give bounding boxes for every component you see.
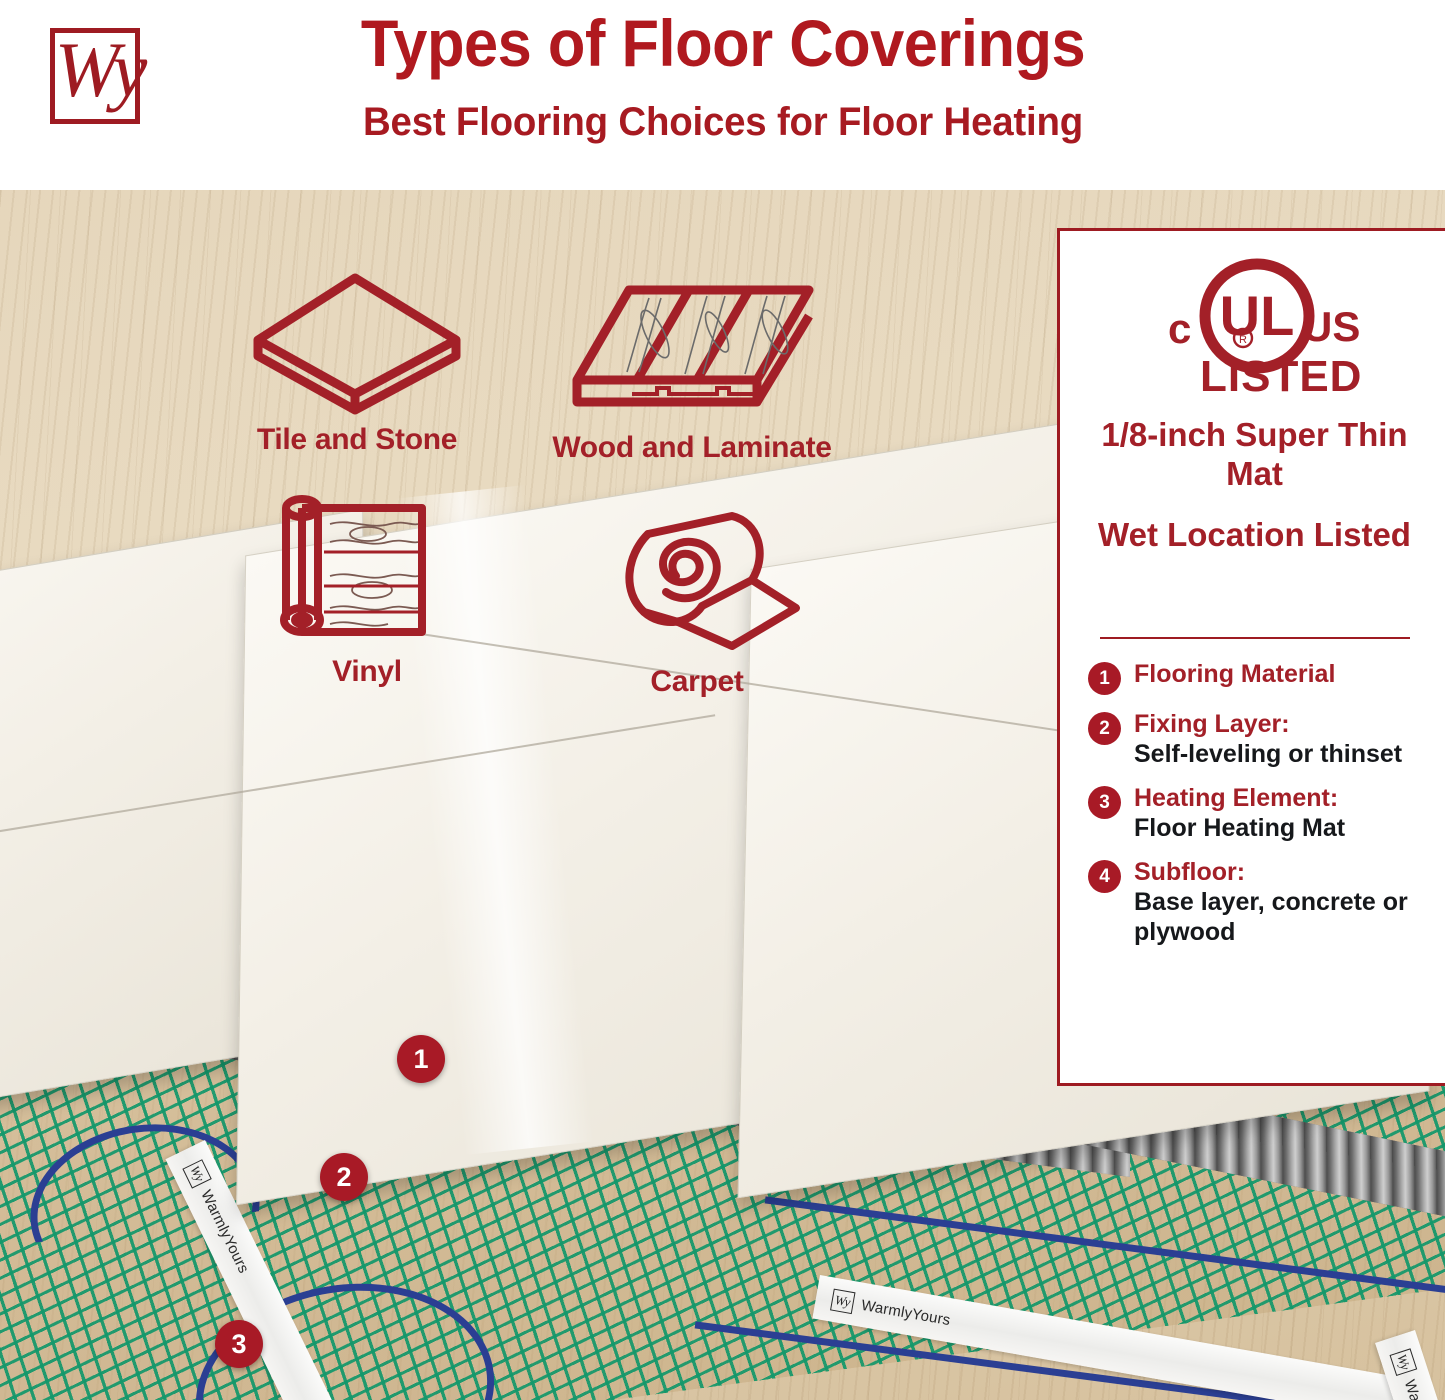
carpet-roll-icon <box>572 500 822 665</box>
info-panel: c US LISTED UL R 1/8-inch Super Thin Mat… <box>1057 228 1445 1086</box>
legend-number-badge: 1 <box>1088 662 1121 695</box>
photo-callout-2: 2 <box>320 1153 368 1201</box>
flooring-type-tile-and-stone: Tile and Stone <box>242 268 472 457</box>
flooring-type-carpet: Carpet <box>572 500 822 699</box>
flooring-type-vinyl: Vinyl <box>257 490 477 689</box>
legend-title: Heating Element: <box>1134 783 1345 813</box>
legend-number-badge: 2 <box>1088 712 1121 745</box>
flooring-type-label: Carpet <box>650 665 743 698</box>
header: Wy Types of Floor Coverings Best Floorin… <box>0 0 1445 190</box>
wy-tape-mark: Wy <box>830 1289 855 1314</box>
legend-title: Subfloor: <box>1134 857 1438 887</box>
svg-text:UL: UL <box>1220 284 1295 347</box>
tile-diamond-icon <box>242 268 472 423</box>
legend-description: Base layer, concrete or plywood <box>1134 887 1438 947</box>
legend-item-3: 3 Heating Element: Floor Heating Mat <box>1088 783 1438 843</box>
legend-description: Floor Heating Mat <box>1134 813 1345 843</box>
flooring-type-label: Tile and Stone <box>257 423 457 456</box>
legend-text: Heating Element: Floor Heating Mat <box>1134 783 1345 843</box>
vinyl-roll-icon <box>257 490 477 655</box>
svg-text:R: R <box>1239 334 1247 346</box>
page-subtitle: Best Flooring Choices for Floor Heating <box>334 100 1112 144</box>
legend-number-badge: 3 <box>1088 786 1121 819</box>
legend-item-1: 1 Flooring Material <box>1088 659 1438 695</box>
infographic-root: Wy WarmlyYours Wy WarmlyYours Wy WarmlyY… <box>0 0 1445 1400</box>
flooring-type-label: Vinyl <box>332 655 402 688</box>
tape-label: WarmlyYours <box>860 1296 952 1328</box>
legend-text: Subfloor: Base layer, concrete or plywoo… <box>1134 857 1438 947</box>
panel-divider <box>1100 637 1410 639</box>
legend-text: Fixing Layer: Self-leveling or thinset <box>1134 709 1402 769</box>
page-title: Types of Floor Coverings <box>346 8 1099 79</box>
wy-tape-mark: Wy <box>182 1159 211 1188</box>
legend-item-4: 4 Subfloor: Base layer, concrete or plyw… <box>1088 857 1438 947</box>
legend-item-2: 2 Fixing Layer: Self-leveling or thinset <box>1088 709 1438 769</box>
panel-headlines: 1/8-inch Super Thin Mat Wet Location Lis… <box>1082 416 1427 555</box>
warmlyyours-logo: Wy <box>42 16 160 134</box>
wood-plank-icon <box>532 276 852 431</box>
wy-tape-mark: Wy <box>1390 1348 1418 1376</box>
logo-wy-monogram: Wy <box>42 16 160 134</box>
layer-legend: 1 Flooring Material 2 Fixing Layer: Self… <box>1088 659 1438 961</box>
flooring-type-wood-and-laminate: Wood and Laminate <box>532 276 852 465</box>
svg-text:c: c <box>1168 305 1191 352</box>
flooring-types-group: Tile and Stone <box>232 268 932 738</box>
legend-title: Flooring Material <box>1134 659 1335 689</box>
legend-description: Self-leveling or thinset <box>1134 739 1402 769</box>
panel-headline-thin-mat: 1/8-inch Super Thin Mat <box>1082 416 1427 494</box>
legend-title: Fixing Layer: <box>1134 709 1402 739</box>
ul-listed-badge-icon: c US LISTED UL R <box>1060 253 1445 403</box>
flooring-type-label: Wood and Laminate <box>552 431 831 464</box>
panel-headline-wet-location: Wet Location Listed <box>1082 516 1427 555</box>
legend-number-badge: 4 <box>1088 860 1121 893</box>
photo-callout-3: 3 <box>215 1320 263 1368</box>
legend-text: Flooring Material <box>1134 659 1335 689</box>
photo-callout-1: 1 <box>397 1035 445 1083</box>
